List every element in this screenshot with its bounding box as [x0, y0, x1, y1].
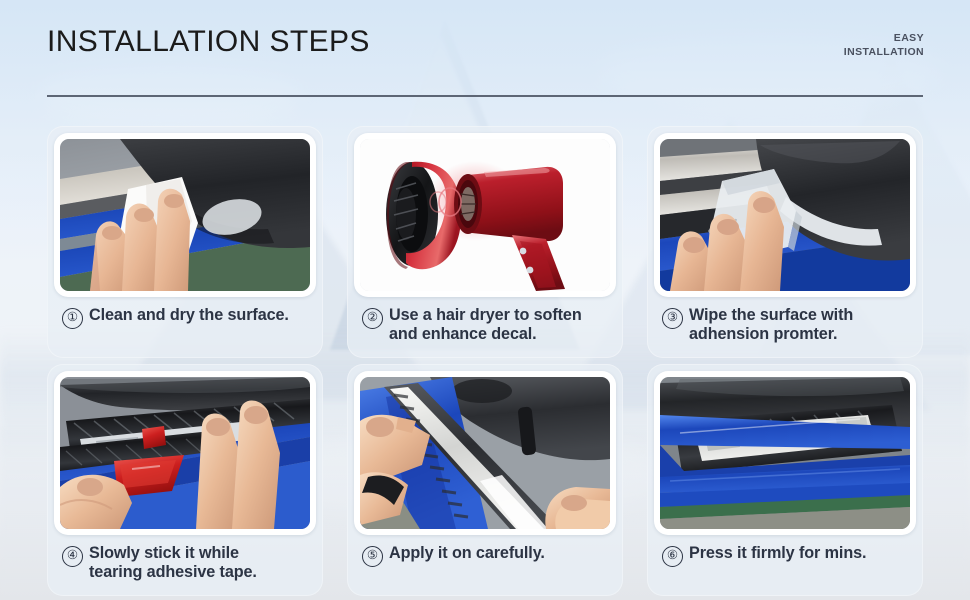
step-photo-4: [60, 377, 310, 529]
step-caption-4: ④ Slowly stick it while tearing adhesive…: [54, 535, 316, 596]
step-caption-line1-4: Slowly stick it while: [89, 544, 239, 562]
step-card-2[interactable]: ② Use a hair dryer to soften and enhance…: [347, 126, 623, 358]
tagline-line-1: EASY: [844, 31, 924, 45]
step-caption-2: ② Use a hair dryer to soften and enhance…: [354, 297, 616, 358]
step-caption-text-5: Apply it on carefully.: [389, 544, 545, 563]
step-caption-3: ③ Wipe the surface with adhension promte…: [654, 297, 916, 358]
step-caption-line1-6: Press it firmly for mins.: [689, 544, 866, 562]
step-card-6[interactable]: ⑥ Press it firmly for mins.: [647, 364, 923, 596]
step-photo-3: [660, 139, 910, 291]
step-caption-line2-4: tearing adhesive tape.: [89, 563, 257, 582]
step-caption-text-1: Clean and dry the surface.: [89, 306, 289, 325]
step-photo-frame-2: [354, 133, 616, 297]
step-card-3[interactable]: ③ Wipe the surface with adhension promte…: [647, 126, 923, 358]
step-card-5[interactable]: ⑤ Apply it on carefully.: [347, 364, 623, 596]
step-caption-6: ⑥ Press it firmly for mins.: [654, 535, 916, 596]
step-photo-6: [660, 377, 910, 529]
step-photo-frame-6: [654, 371, 916, 535]
step-number-5: ⑤: [362, 546, 383, 567]
step-caption-line1-3: Wipe the surface with: [689, 306, 853, 324]
step-caption-line1-2: Use a hair dryer to soften: [389, 306, 582, 324]
step-photo-5: [360, 377, 610, 529]
installation-steps-infographic: INSTALLATION STEPS EASY INSTALLATION: [0, 0, 970, 600]
step-photo-frame-1: [54, 133, 316, 297]
step-card-1[interactable]: ① Clean and dry the surface.: [47, 126, 323, 358]
step-photo-1: [60, 139, 310, 291]
step-photo-2: [360, 139, 610, 291]
step-photo-frame-4: [54, 371, 316, 535]
step-number-1: ①: [62, 308, 83, 329]
step-card-4[interactable]: ④ Slowly stick it while tearing adhesive…: [47, 364, 323, 596]
step-photo-frame-3: [654, 133, 916, 297]
step-caption-text-4: Slowly stick it while tearing adhesive t…: [89, 544, 257, 582]
step-number-2: ②: [362, 308, 383, 329]
step-caption-line1-5: Apply it on carefully.: [389, 544, 545, 562]
page-title: INSTALLATION STEPS: [47, 25, 370, 59]
header-divider: [47, 95, 923, 97]
step-number-3: ③: [662, 308, 683, 329]
tagline-line-2: INSTALLATION: [844, 45, 924, 59]
step-caption-text-2: Use a hair dryer to soften and enhance d…: [389, 306, 582, 344]
step-caption-text-3: Wipe the surface with adhension promter.: [689, 306, 853, 344]
step-number-4: ④: [62, 546, 83, 567]
step-photo-frame-5: [354, 371, 616, 535]
step-caption-1: ① Clean and dry the surface.: [54, 297, 316, 358]
step-caption-line2-2: and enhance decal.: [389, 325, 582, 344]
step-caption-line1-1: Clean and dry the surface.: [89, 306, 289, 324]
step-number-6: ⑥: [662, 546, 683, 567]
step-caption-text-6: Press it firmly for mins.: [689, 544, 866, 563]
steps-grid: ① Clean and dry the surface.: [47, 126, 923, 596]
step-caption-line2-3: adhension promter.: [689, 325, 853, 344]
step-caption-5: ⑤ Apply it on carefully.: [354, 535, 616, 596]
header-tagline: EASY INSTALLATION: [844, 31, 924, 59]
